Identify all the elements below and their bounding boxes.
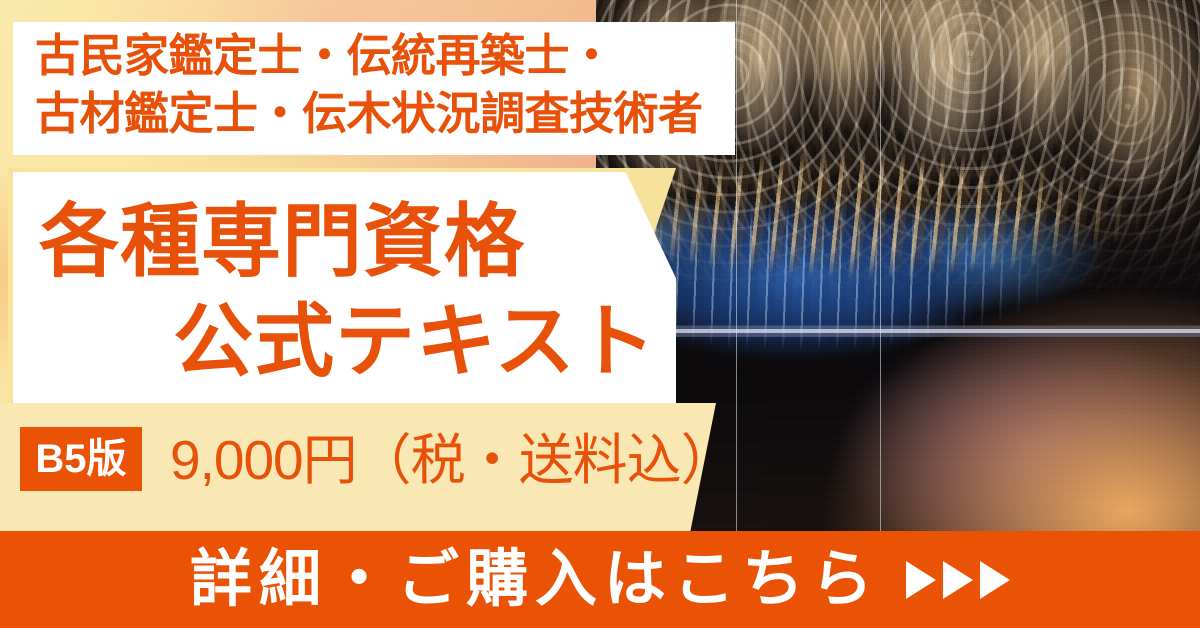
promo-banner: 古民家 伝統構法 古民家活用のための調査と再生の 古民家鑑定士・伝統再築士・ 古…: [0, 0, 1200, 628]
headline-panel: 各種専門資格 公式テキスト: [13, 172, 676, 403]
qualifications-panel: 古民家鑑定士・伝統再築士・ 古材鑑定士・伝木状況調査技術者: [13, 22, 735, 155]
qualifications-line-2: 古材鑑定士・伝木状況調査技術者: [35, 85, 703, 143]
size-badge-label: B5版: [35, 439, 126, 479]
cta-label: 詳細・ご購入はこちら: [190, 549, 880, 611]
play-arrow-icon-2: [943, 561, 973, 599]
price-amount: 9,000円（税・送料込）: [170, 430, 735, 490]
headline-line-1: 各種専門資格: [39, 202, 525, 282]
headline-line-2: 公式テキスト: [173, 302, 657, 382]
cta-arrow-group: [906, 561, 1010, 599]
book-gutter-rule-left: [736, 0, 737, 532]
play-arrow-icon-3: [980, 561, 1010, 599]
play-arrow-icon-1: [906, 561, 936, 599]
cta-bar[interactable]: 詳細・ご購入はこちら: [0, 531, 1200, 628]
book-gutter-rule-right: [880, 0, 881, 532]
size-badge: B5版: [20, 427, 142, 491]
qualifications-line-1: 古民家鑑定士・伝統再築士・: [35, 27, 614, 85]
